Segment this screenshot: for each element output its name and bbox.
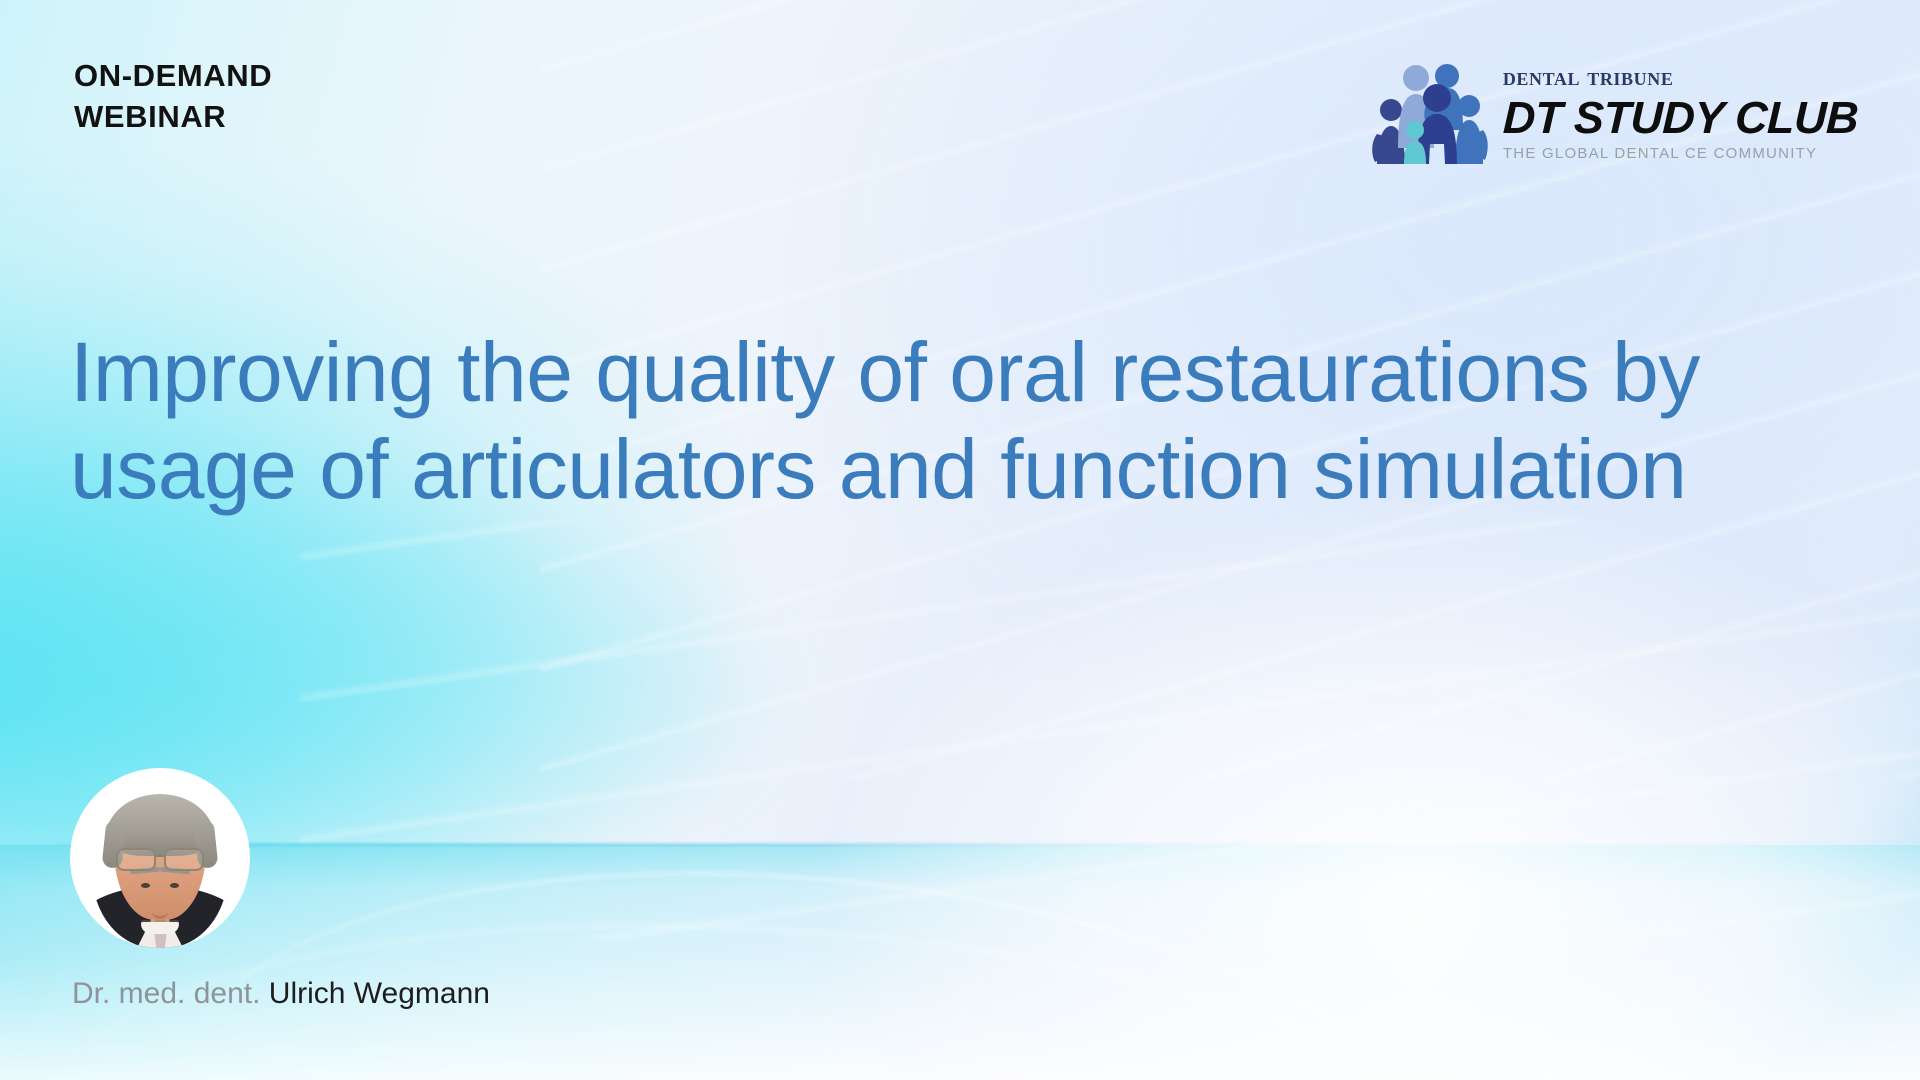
dt-study-club-logo[interactable]: Dental Tribune DT STUDY CLUB THE GLOBAL …	[1371, 56, 1858, 164]
webinar-title-slide: ON-DEMAND WEBINAR Improving the quality …	[0, 0, 1920, 1080]
brand-name: Dental Tribune	[1503, 64, 1674, 90]
speaker-name: Dr. med. dent. Ulrich Wegmann	[72, 977, 490, 1010]
speaker-fullname: Ulrich Wegmann	[269, 977, 490, 1010]
background-glow-bottom-right	[820, 500, 1920, 1080]
glasses-icon	[112, 848, 208, 868]
portrait-lens-left	[116, 848, 156, 871]
logo-title: DT STUDY CLUB	[1502, 95, 1859, 140]
group-of-people-icon	[1371, 56, 1489, 164]
speaker-pretitle: Dr. med. dent.	[72, 977, 260, 1010]
portrait-eye-right	[170, 883, 179, 888]
portrait-lens-bridge	[154, 855, 166, 857]
eyebrow-label: ON-DEMAND WEBINAR	[74, 55, 272, 137]
page-title: Improving the quality of oral restaurati…	[70, 324, 1800, 517]
avatar	[70, 768, 250, 948]
speaker-portrait-photo	[92, 776, 228, 948]
logo-tagline: THE GLOBAL DENTAL CE COMMUNITY	[1503, 146, 1817, 161]
logo-text-block: Dental Tribune DT STUDY CLUB THE GLOBAL …	[1503, 60, 1858, 161]
portrait-nose	[152, 896, 168, 919]
portrait-hair	[106, 794, 214, 856]
portrait-mouth	[141, 922, 179, 934]
portrait-lens-right	[164, 848, 204, 871]
portrait-eye-left	[141, 883, 150, 888]
